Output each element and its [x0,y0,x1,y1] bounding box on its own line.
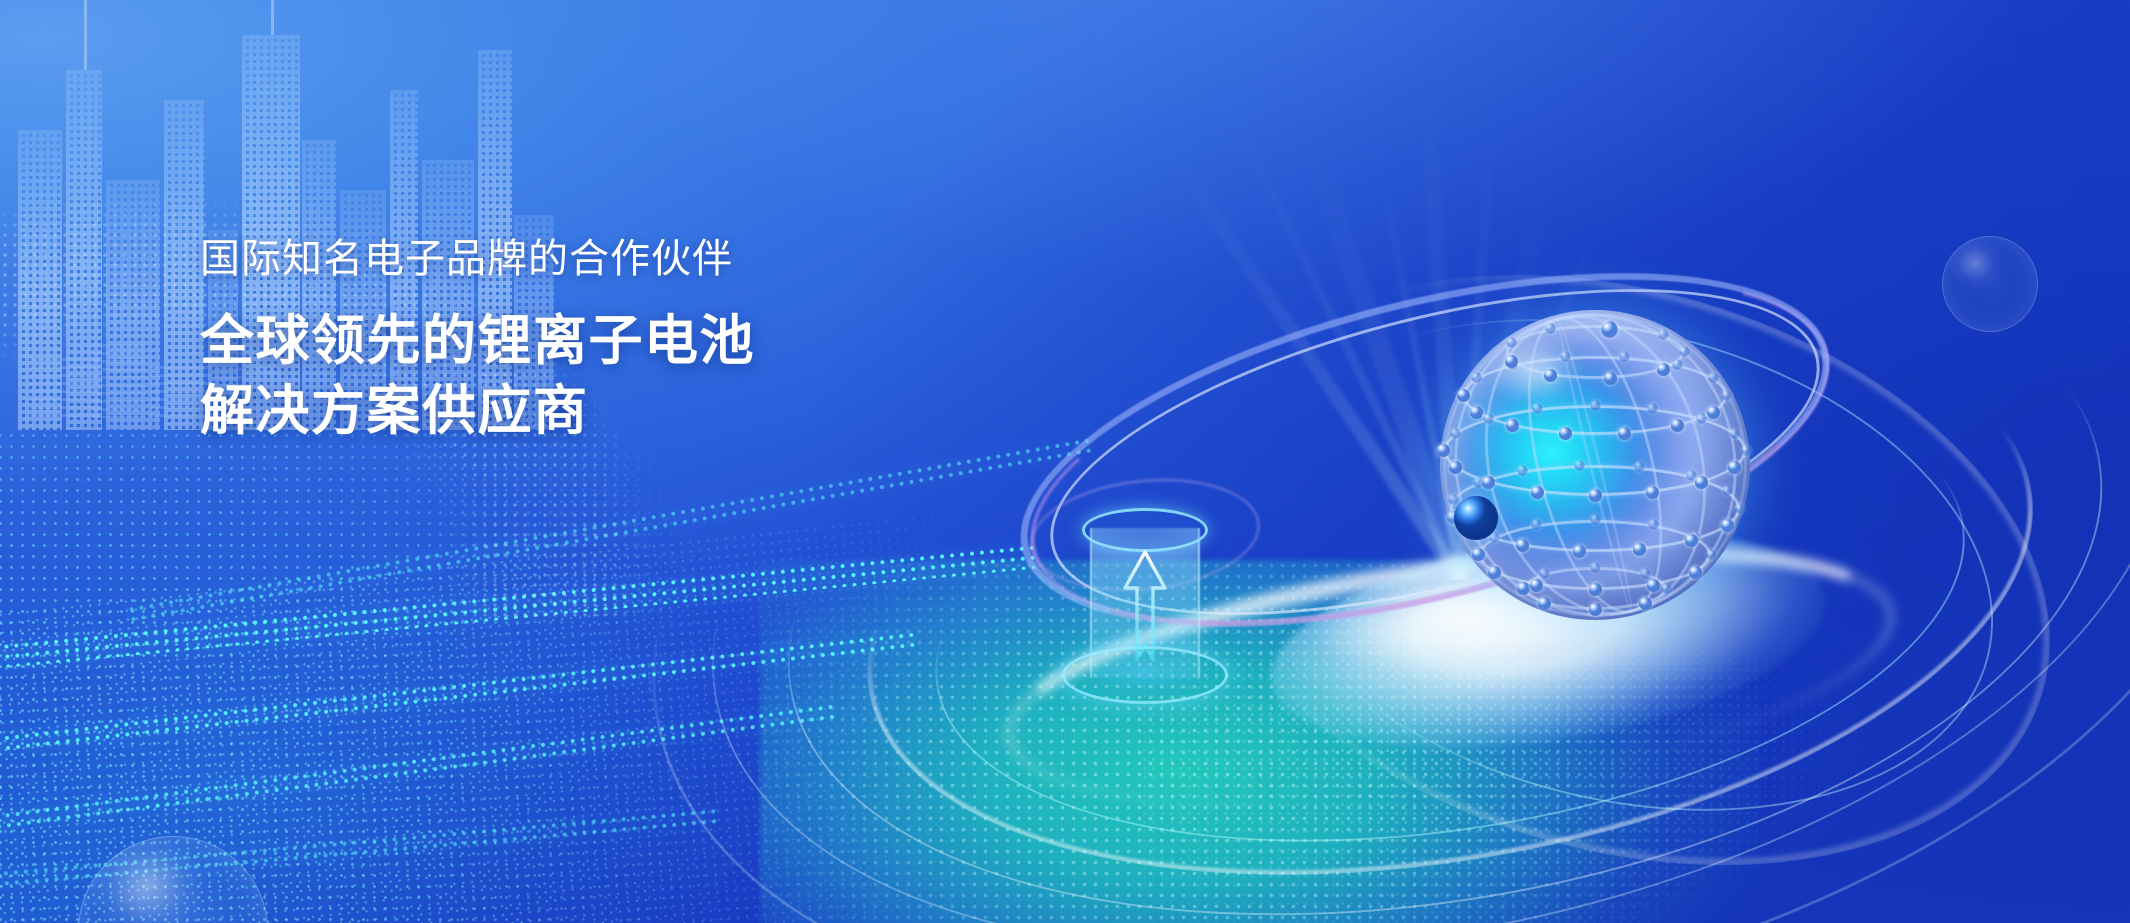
skyline-building [18,130,62,430]
eyebrow-text: 国际知名电子品牌的合作伙伴 [200,232,1100,286]
circuit-hatch [92,344,146,418]
headline-line-1: 全球领先的锂离子电池 [200,306,1100,376]
circuit-hatch [30,358,100,418]
headline-line-2: 解决方案供应商 [200,376,1100,446]
page-title: 全球领先的锂离子电池 解决方案供应商 [200,306,1100,446]
skyline-spire [271,0,274,35]
skyline-spire [84,0,87,70]
hero-copy: 国际知名电子品牌的合作伙伴 全球领先的锂离子电池 解决方案供应商 [200,232,1100,446]
bubble [1942,236,2038,332]
skyline-building [164,100,204,430]
hero-banner: 国际知名电子品牌的合作伙伴 全球领先的锂离子电池 解决方案供应商 [0,0,2130,923]
skyline-building [106,180,160,430]
skyline-building [66,70,102,430]
